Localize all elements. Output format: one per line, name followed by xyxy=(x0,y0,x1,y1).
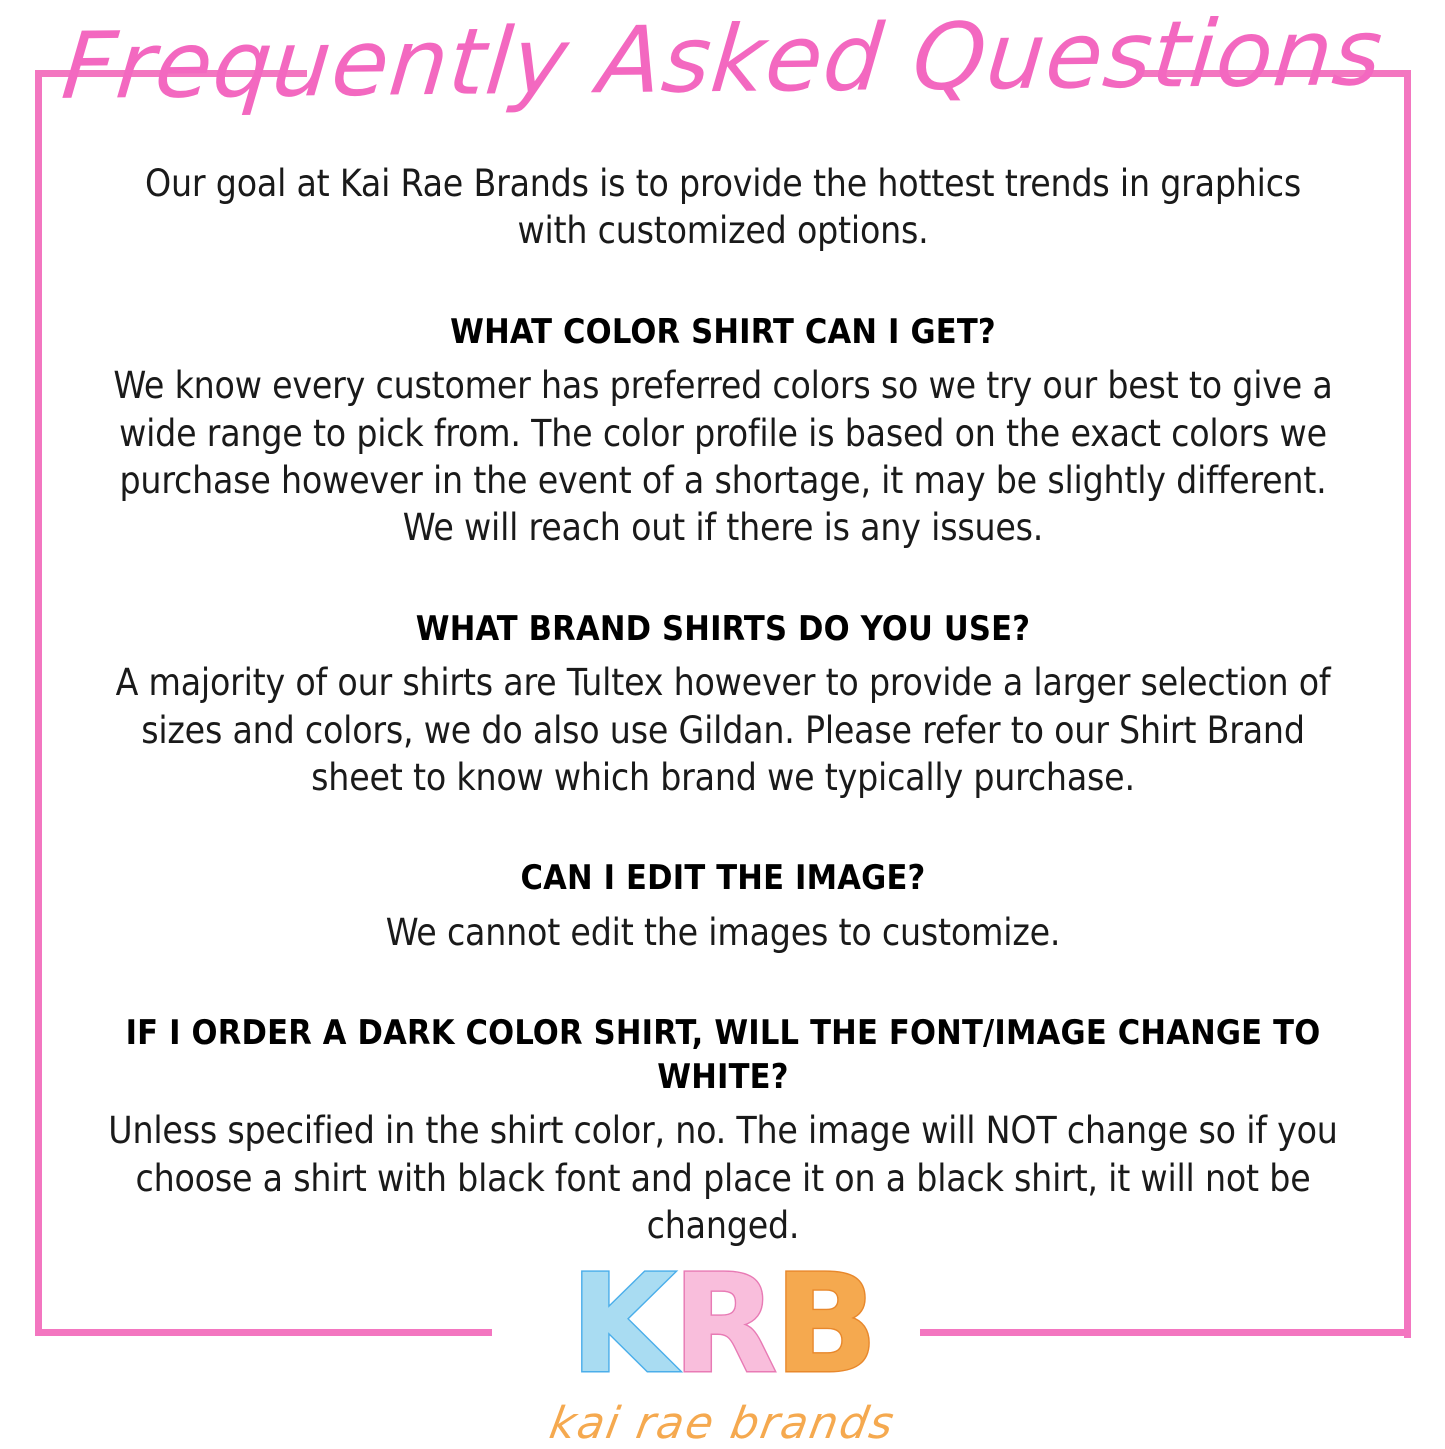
faq-item-edit-image: CAN I EDIT THE IMAGE? We cannot edit the… xyxy=(108,857,1338,956)
faq-item-shirt-brand: WHAT BRAND SHIRTS DO YOU USE? A majority… xyxy=(108,608,1338,802)
faq-question: IF I ORDER A DARK COLOR SHIRT, WILL THE … xyxy=(108,1012,1338,1099)
faq-question: WHAT BRAND SHIRTS DO YOU USE? xyxy=(108,608,1338,652)
logo-letter-k: K xyxy=(570,1246,672,1404)
logo-wordmark: kai rae brands xyxy=(0,1398,1445,1449)
faq-answer: We know every customer has preferred col… xyxy=(108,362,1338,551)
faq-item-shirt-color: WHAT COLOR SHIRT CAN I GET? We know ever… xyxy=(108,311,1338,552)
logo-letter-b: B xyxy=(774,1246,875,1404)
faq-answer: We cannot edit the images to customize. xyxy=(108,909,1338,956)
faq-graphic: Frequently Asked Questions Our goal at K… xyxy=(0,0,1445,1445)
frame-border-left xyxy=(35,70,42,1335)
faq-content: Our goal at Kai Rae Brands is to provide… xyxy=(108,160,1338,1249)
faq-question: WHAT COLOR SHIRT CAN I GET? xyxy=(108,311,1338,355)
faq-answer: Unless specified in the shirt color, no.… xyxy=(108,1107,1338,1249)
frame-border-right xyxy=(1404,70,1411,1338)
page-title: Frequently Asked Questions xyxy=(0,4,1445,116)
faq-answer: A majority of our shirts are Tultex howe… xyxy=(108,659,1338,801)
faq-question: CAN I EDIT THE IMAGE? xyxy=(108,857,1338,901)
faq-item-dark-shirt-font: IF I ORDER A DARK COLOR SHIRT, WILL THE … xyxy=(108,1012,1338,1249)
logo-monogram: KRB xyxy=(0,1246,1445,1404)
intro-paragraph: Our goal at Kai Rae Brands is to provide… xyxy=(108,160,1338,255)
logo-letter-r: R xyxy=(672,1246,774,1404)
brand-logo: KRB kai rae brands xyxy=(0,1246,1445,1449)
